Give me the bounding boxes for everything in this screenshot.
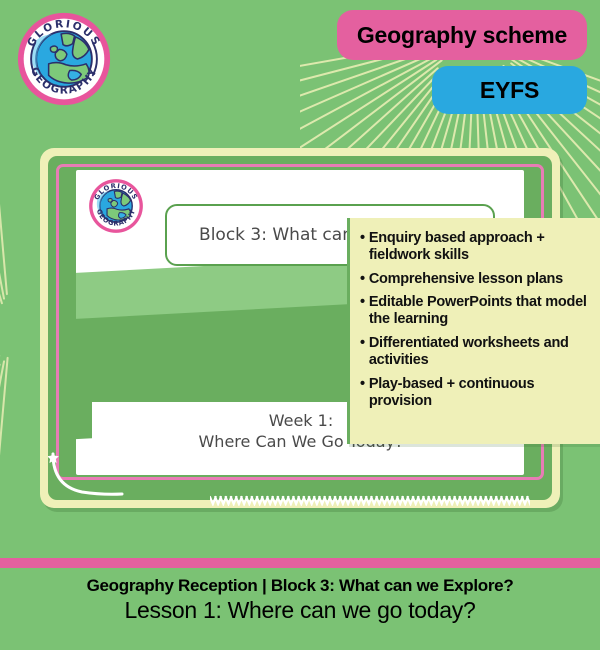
zigzag-decoration: [210, 494, 530, 506]
badge-geography-scheme-label: Geography scheme: [357, 22, 567, 49]
badge-key-stage-label: EYFS: [480, 77, 539, 104]
feature-text: Differentiated worksheets and activities: [369, 335, 592, 369]
brand-logo: GLORIOUS GEOGRAPHY: [16, 11, 112, 107]
badge-geography-scheme[interactable]: Geography scheme: [337, 10, 587, 60]
feature-text: Comprehensive lesson plans: [369, 271, 592, 288]
features-callout: • Enquiry based approach + fieldwork ski…: [347, 218, 600, 444]
slide-brand-logo: GLORIOUS GEOGRAPHY: [88, 178, 144, 239]
caption-bar: Geography Reception | Block 3: What can …: [0, 568, 600, 650]
list-item: • Differentiated worksheets and activiti…: [360, 335, 592, 369]
feature-text: Enquiry based approach + fieldwork skill…: [369, 230, 592, 264]
caption-line-1: Geography Reception | Block 3: What can …: [87, 576, 514, 596]
list-item: • Comprehensive lesson plans: [360, 271, 592, 288]
poster-canvas: GLORIOUS GEOGRAPHY Geography scheme EYFS: [0, 0, 600, 650]
star-swoosh-decoration: [48, 452, 128, 507]
list-item: • Play-based + continuous provision: [360, 376, 592, 410]
bullet-icon: •: [360, 271, 365, 288]
feature-text: Play-based + continuous provision: [369, 376, 592, 410]
bullet-icon: •: [360, 230, 365, 264]
bullet-icon: •: [360, 335, 365, 369]
feature-text: Editable PowerPoints that model the lear…: [369, 294, 592, 328]
bullet-icon: •: [360, 294, 365, 328]
badge-key-stage[interactable]: EYFS: [432, 66, 587, 114]
caption-line-2: Lesson 1: Where can we go today?: [125, 597, 476, 624]
pink-divider: [0, 558, 600, 568]
list-item: • Enquiry based approach + fieldwork ski…: [360, 230, 592, 264]
bullet-icon: •: [360, 376, 365, 410]
features-list: • Enquiry based approach + fieldwork ski…: [360, 230, 592, 409]
list-item: • Editable PowerPoints that model the le…: [360, 294, 592, 328]
